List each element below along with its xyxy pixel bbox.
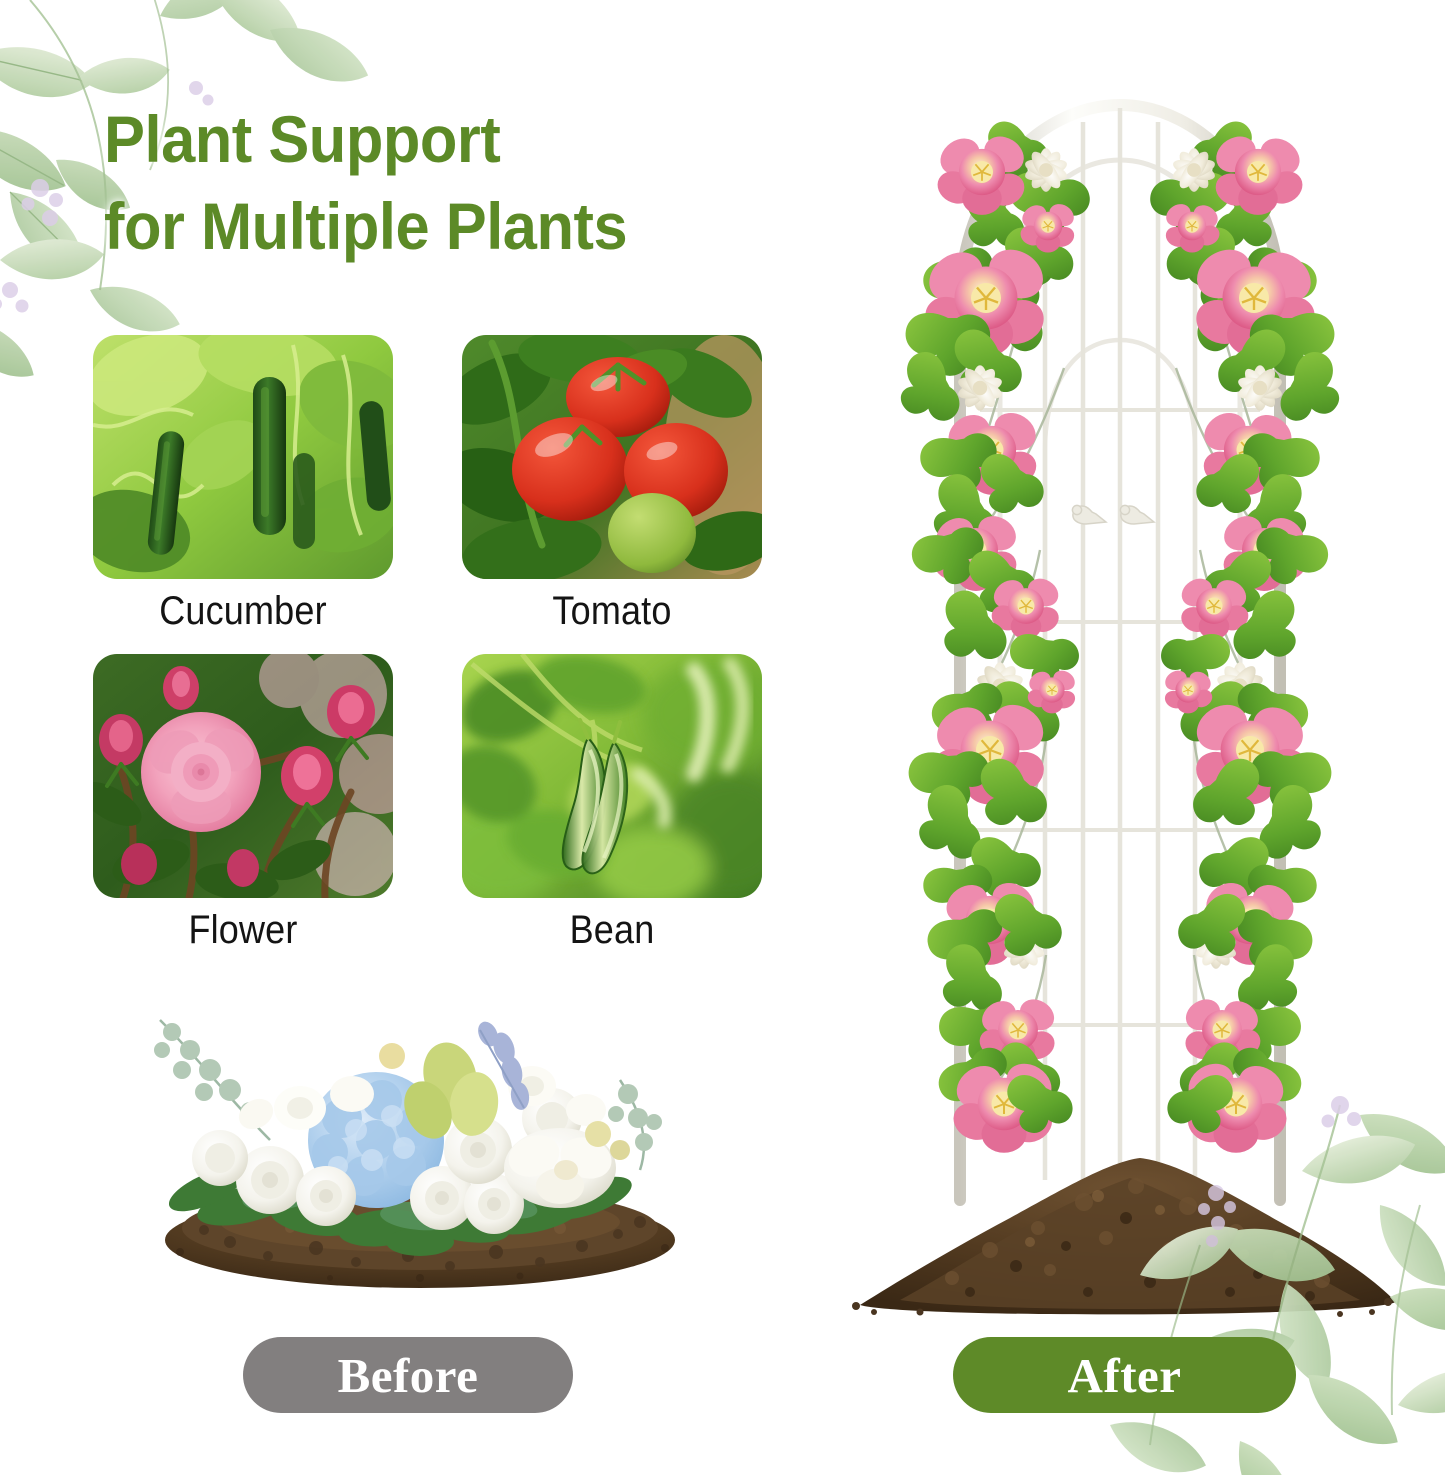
plant-card-tomato[interactable]: Tomato bbox=[462, 335, 762, 634]
tomato-photo bbox=[462, 335, 762, 579]
page-title: Plant Support for Multiple Plants bbox=[104, 96, 792, 270]
before-badge: Before bbox=[243, 1337, 573, 1413]
flower-photo bbox=[93, 654, 393, 898]
plant-row: Flower bbox=[93, 654, 773, 953]
supported-plants-grid: Cucumber bbox=[93, 335, 773, 973]
plant-card-cucumber[interactable]: Cucumber bbox=[93, 335, 393, 634]
bean-photo bbox=[462, 654, 762, 898]
infographic-page: Plant Support for Multiple Plants bbox=[0, 0, 1445, 1445]
plant-card-flower[interactable]: Flower bbox=[93, 654, 393, 953]
plant-row: Cucumber bbox=[93, 335, 773, 634]
plant-label: Bean bbox=[477, 908, 747, 953]
after-badge: After bbox=[953, 1337, 1296, 1413]
before-scene-flower-arrangement bbox=[120, 990, 720, 1300]
after-scene-trellis-in-soil bbox=[840, 50, 1400, 1320]
plant-card-bean[interactable]: Bean bbox=[462, 654, 762, 953]
cucumber-photo bbox=[93, 335, 393, 579]
plant-label: Flower bbox=[108, 908, 378, 953]
plant-label: Tomato bbox=[477, 589, 747, 634]
plant-label: Cucumber bbox=[108, 589, 378, 634]
